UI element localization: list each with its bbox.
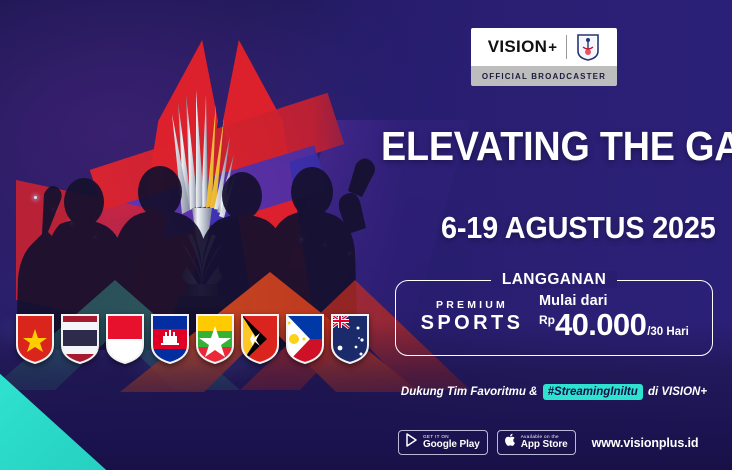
participating-countries-flags — [16, 314, 369, 364]
subscription-content: PREMIUM SPORTS Mulai dari Rp 40.000 /30 … — [395, 280, 713, 356]
apple-logo-icon — [505, 433, 517, 452]
website-url[interactable]: www.visionplus.id — [592, 436, 699, 450]
package-name: PREMIUM SPORTS — [395, 300, 535, 337]
price-amount: 40.000 — [555, 307, 646, 343]
federation-shield-icon — [576, 33, 600, 61]
official-broadcaster-label: OFFICIAL BROADCASTER — [482, 72, 606, 81]
vision-text: VISION — [488, 37, 547, 57]
plus-glyph: + — [548, 40, 557, 55]
indonesia-flag — [106, 314, 144, 364]
page-title: ELEVATING THE GAME — [381, 126, 690, 167]
official-broadcaster-logo: VISION+ OFFICIAL BROADCASTER — [471, 28, 617, 86]
google-play-big: Google Play — [423, 440, 480, 450]
google-play-text: GET IT ON Google Play — [423, 435, 480, 451]
google-play-icon — [406, 433, 419, 452]
vietnam-flag — [16, 314, 54, 364]
price-row: Rp 40.000 /30 Hari — [539, 307, 713, 343]
app-store-big: App Store — [521, 440, 568, 450]
package-tier: PREMIUM — [409, 300, 535, 312]
price-period: /30 Hari — [647, 326, 689, 338]
package-category: SPORTS — [409, 311, 535, 336]
australia-flag — [331, 314, 369, 364]
campaign-tagline: Dukung Tim Favoritmu & #StreamingIniItu … — [394, 386, 714, 398]
vision-plus-wordmark: VISION+ — [488, 37, 558, 57]
logo-divider — [566, 35, 567, 59]
app-store-badges: GET IT ON Google Play Available on the A… — [398, 430, 698, 455]
google-play-badge[interactable]: GET IT ON Google Play — [398, 430, 488, 455]
app-store-badge[interactable]: Available on the App Store — [497, 430, 576, 455]
tagline-before: Dukung Tim Favoritmu & — [401, 386, 538, 398]
philippines-flag — [286, 314, 324, 364]
timor-leste-flag — [241, 314, 279, 364]
tagline-after: di VISION+ — [648, 386, 707, 398]
campaign-hashtag: #StreamingIniItu — [543, 384, 643, 400]
thailand-flag — [61, 314, 99, 364]
logo-lockup: VISION+ — [471, 28, 617, 66]
cambodia-flag — [151, 314, 189, 364]
app-store-text: Available on the App Store — [521, 435, 568, 451]
official-broadcaster-strip: OFFICIAL BROADCASTER — [471, 66, 617, 86]
currency-symbol: Rp — [539, 313, 555, 327]
event-dates: 6-19 AGUSTUS 2025 — [441, 212, 716, 243]
price-block: Mulai dari Rp 40.000 /30 Hari — [535, 293, 713, 343]
promo-banner: VISION+ OFFICIAL BROADCASTER ELEVATING T… — [0, 0, 732, 470]
myanmar-flag — [196, 314, 234, 364]
